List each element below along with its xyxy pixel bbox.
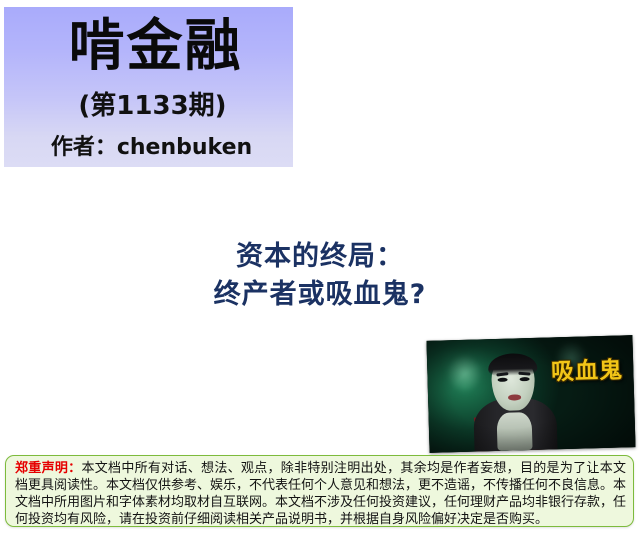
disclaimer-body: 本文档中所有对话、想法、观点，除非特别注明出处，其余均是作者妄想，目的是为了让本… xyxy=(15,461,626,527)
photo-frame: 吸血鬼 xyxy=(426,335,635,453)
photo-caption: 吸血鬼 xyxy=(551,358,624,386)
issue-number: (第1133期) xyxy=(4,91,293,121)
header-card: 啃金融 (第1133期) 作者：chenbuken xyxy=(4,7,293,167)
headline-line-1: 资本的终局： xyxy=(0,238,640,276)
disclaimer-text: 郑重声明：本文档中所有对话、想法、观点，除非特别注明出处，其余均是作者妄想，目的… xyxy=(15,460,626,528)
author-label: 作者：chenbuken xyxy=(4,135,293,161)
disclaimer-box: 郑重声明：本文档中所有对话、想法、观点，除非特别注明出处，其余均是作者妄想，目的… xyxy=(5,455,634,527)
disclaimer-label: 郑重声明： xyxy=(15,461,81,476)
page-title: 啃金融 xyxy=(4,16,293,78)
photo-vignette xyxy=(426,335,635,453)
headline: 资本的终局： 终产者或吸血鬼? xyxy=(0,238,640,314)
vampire-photo: 吸血鬼 xyxy=(426,335,635,453)
headline-line-2: 终产者或吸血鬼? xyxy=(0,276,640,314)
